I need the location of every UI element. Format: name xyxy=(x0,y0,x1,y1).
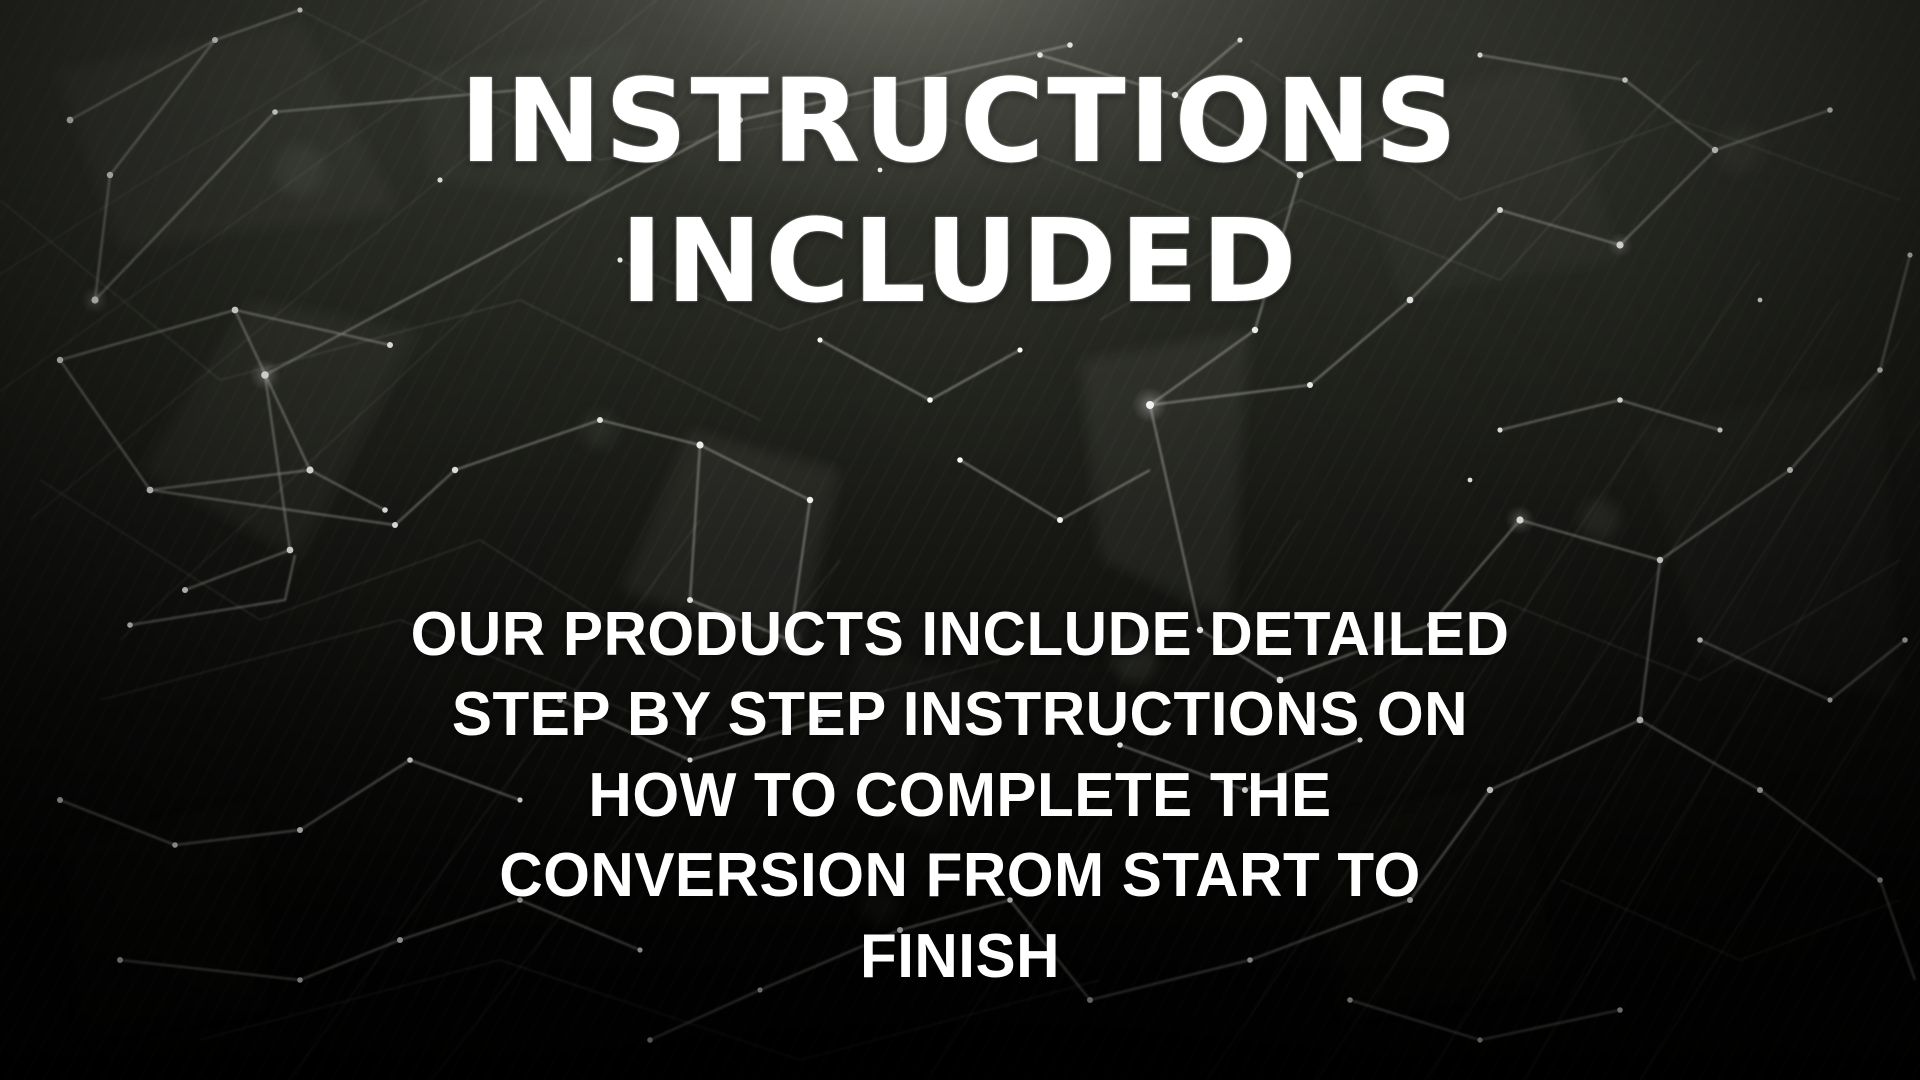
body-line-3: HOW TO COMPLETE THE xyxy=(29,756,1891,837)
title-line-1: INSTRUCTIONS xyxy=(0,52,1920,192)
title-line-2: INCLUDED xyxy=(0,192,1920,332)
slide-content: INSTRUCTIONS INCLUDED OUR PRODUCTS INCLU… xyxy=(0,0,1920,1080)
body-line-2: STEP BY STEP INSTRUCTIONS ON xyxy=(29,675,1891,756)
body-line-1: OUR PRODUCTS INCLUDE DETAILED xyxy=(29,595,1891,676)
body-text-block: OUR PRODUCTS INCLUDE DETAILED STEP BY ST… xyxy=(0,595,1920,998)
body-line-4: CONVERSION FROM START TO xyxy=(29,836,1891,917)
slide-canvas: INSTRUCTIONS INCLUDED OUR PRODUCTS INCLU… xyxy=(0,0,1920,1080)
title-block: INSTRUCTIONS INCLUDED xyxy=(0,52,1920,333)
body-line-5: FINISH xyxy=(29,917,1891,998)
